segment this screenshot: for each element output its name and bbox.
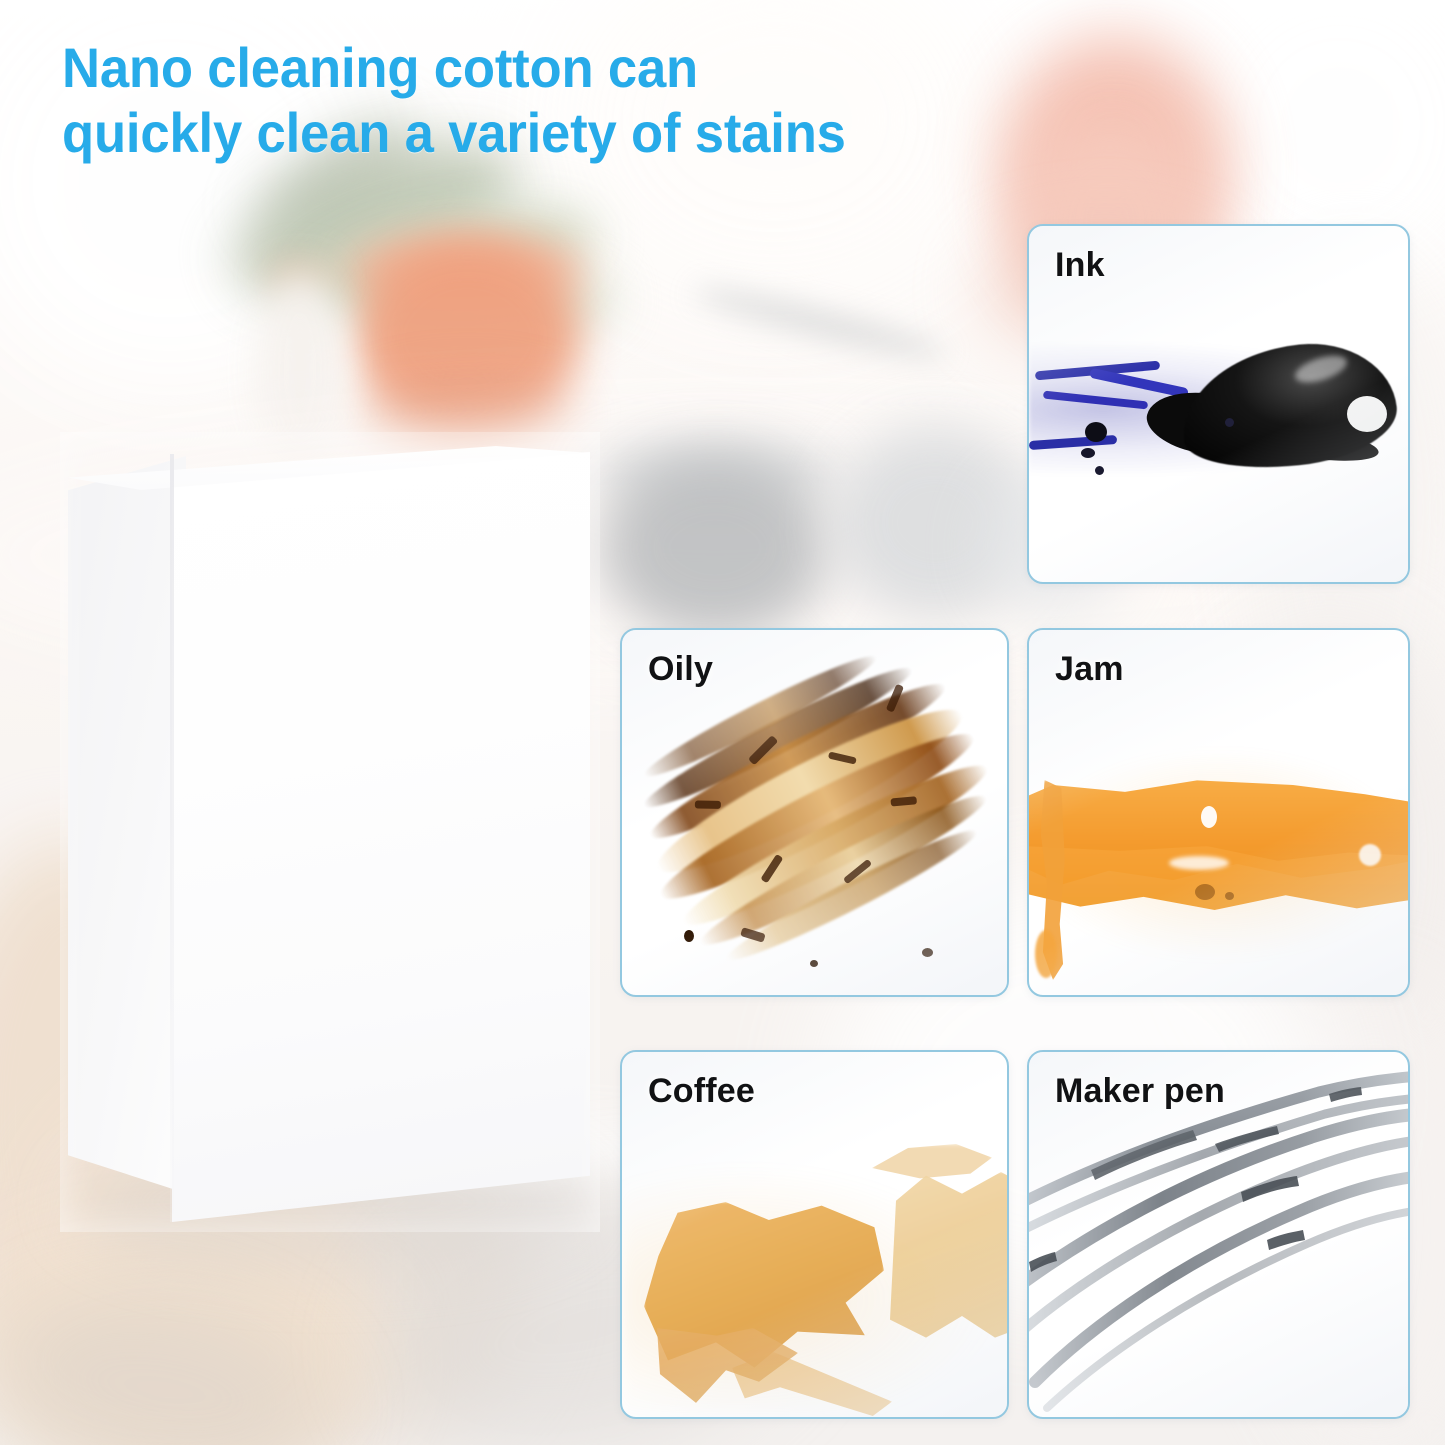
ink-dot-3 — [1095, 466, 1104, 475]
stain-card-label-ink: Ink — [1055, 246, 1105, 285]
jam-drip-droplet — [1035, 930, 1057, 978]
sponge-side-face — [68, 456, 186, 1216]
ink-speck — [1225, 418, 1234, 427]
stain-card-jam: Jam — [1027, 628, 1410, 997]
jam-highlight-2 — [1359, 844, 1381, 866]
stain-card-label-coffee: Coffee — [648, 1072, 755, 1111]
headline-line-2: quickly clean a variety of stains — [62, 101, 1058, 166]
stain-card-oily: Oily — [620, 628, 1009, 997]
sponge-front-face — [172, 452, 590, 1222]
stain-card-label-oily: Oily — [648, 650, 713, 689]
ink-dot-2 — [1081, 448, 1095, 458]
sponge-edge-highlight — [170, 454, 174, 1222]
jam-seed-2 — [1225, 892, 1234, 900]
stain-card-label-jam: Jam — [1055, 650, 1124, 689]
stain-card-coffee: Coffee — [620, 1050, 1009, 1419]
product-infographic: Nano cleaning cotton can quickly clean a… — [0, 0, 1445, 1445]
ink-blob-highlight — [1347, 396, 1387, 432]
oily-droplet-1 — [922, 948, 933, 957]
stain-card-maker-pen: Maker pen — [1027, 1050, 1410, 1419]
sponge-block — [60, 432, 600, 1232]
oily-droplet-3 — [684, 930, 694, 942]
jam-highlight-1 — [1201, 806, 1217, 828]
jam-highlight-streak — [1169, 856, 1229, 870]
stain-card-ink: Ink — [1027, 224, 1410, 584]
oily-droplet-2 — [810, 960, 818, 967]
oily-fleck-1 — [695, 800, 721, 808]
jam-seed-1 — [1195, 884, 1215, 900]
ink-dot-1 — [1085, 422, 1107, 442]
grey-pot-left — [600, 455, 830, 640]
stain-card-label-maker-pen: Maker pen — [1055, 1072, 1225, 1111]
coffee-blotch-right — [884, 1172, 1007, 1352]
headline-line-1: Nano cleaning cotton can — [62, 36, 1058, 101]
headline: Nano cleaning cotton can quickly clean a… — [62, 36, 1058, 166]
